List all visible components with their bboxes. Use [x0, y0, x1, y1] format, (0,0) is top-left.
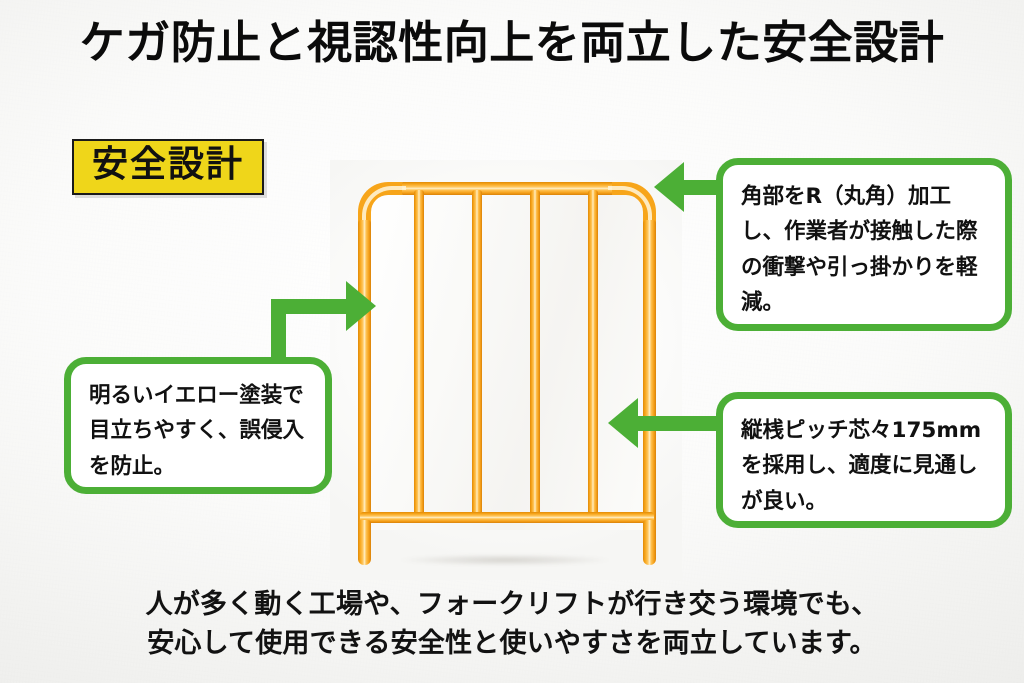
gate-leg-right [643, 520, 656, 565]
status-badge: 安全設計 [72, 139, 264, 195]
bottom-caption: 人が多く動く工場や、フォークリフトが行き交う環境でも、 安心して使用できる安全性… [0, 586, 1024, 664]
callout-bar-pitch: 縦桟ピッチ芯々175mmを採用し、適度に見通しが良い。 [716, 392, 1012, 528]
gate-vertical-bar [588, 190, 598, 518]
callout-bar-pitch-text: 縦桟ピッチ芯々175mmを採用し、適度に見通しが良い。 [741, 413, 989, 519]
gate-post-left [358, 220, 371, 525]
callout-corner-r-processing: 角部をR（丸角）加工し、作業者が接触した際の衝撃や引っ掛かりを軽減。 [716, 158, 1012, 331]
product-floor-shadow [346, 552, 664, 568]
slide-root: ケガ防止と視認性向上を両立した安全設計 安全設計 [0, 0, 1024, 683]
bottom-caption-line-2: 安心して使用できる安全性と使いやすさを両立しています。 [0, 625, 1024, 664]
arrow-shaft-yellow-horizontal [271, 299, 346, 314]
status-badge-label: 安全設計 [92, 144, 244, 185]
gate-vertical-bar [530, 190, 540, 518]
page-title: ケガ防止と視認性向上を両立した安全設計 [0, 16, 1024, 69]
arrow-head-corner-r-icon [654, 162, 684, 212]
gate-post-right [643, 220, 656, 525]
gate-vertical-bar [414, 190, 424, 518]
callout-yellow-coating: 明るいイエロー塗装で目立ちやすく、誤侵入を防止。 [64, 357, 332, 494]
arrow-head-pitch-icon [608, 398, 638, 448]
product-photo [330, 160, 682, 580]
arrow-shaft-pitch [638, 416, 718, 431]
gate-bottom-rail [360, 512, 654, 523]
arrow-shaft-corner-r [684, 180, 718, 195]
gate-top-rail [400, 182, 616, 195]
bottom-caption-line-1: 人が多く動く工場や、フォークリフトが行き交う環境でも、 [0, 586, 1024, 625]
gate-panel [370, 194, 644, 530]
callout-yellow-coating-text: 明るいイエロー塗装で目立ちやすく、誤侵入を防止。 [89, 378, 309, 484]
gate-leg-left [358, 520, 371, 565]
callout-corner-r-text: 角部をR（丸角）加工し、作業者が接触した際の衝撃や引っ掛かりを軽減。 [741, 179, 989, 320]
arrow-head-yellow-icon [346, 281, 376, 331]
gate-vertical-bar [472, 190, 482, 518]
